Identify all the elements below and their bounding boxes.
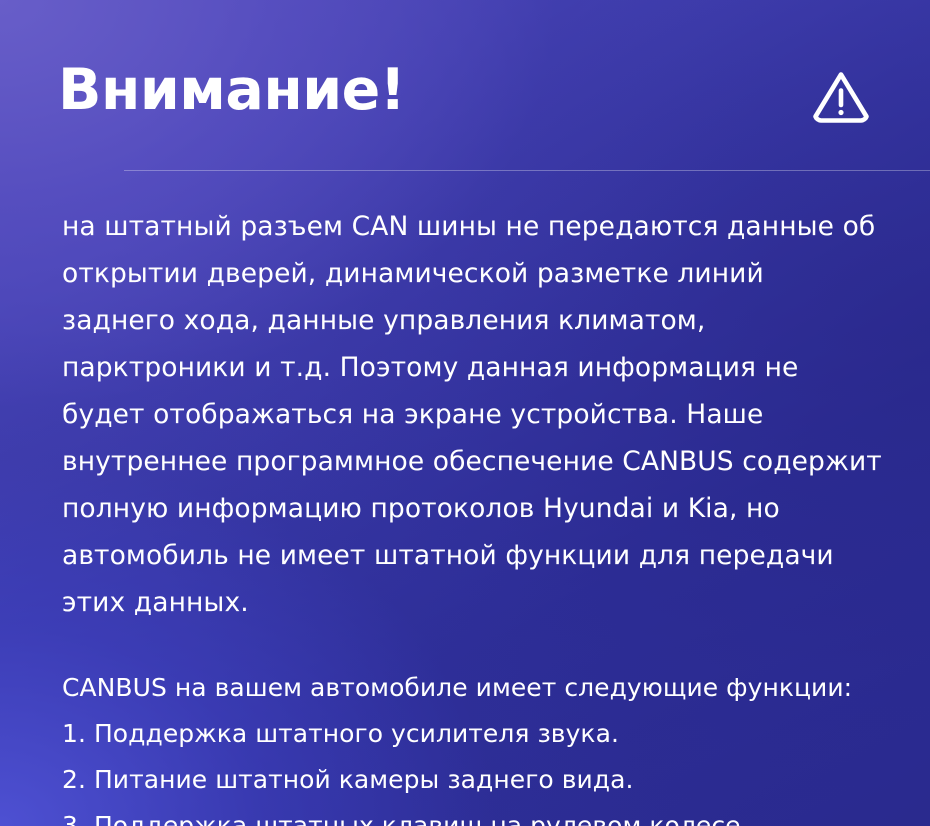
warning-banner: Внимание! на штатный разъем CAN шины не … — [0, 0, 930, 826]
banner-content: на штатный разъем CAN шины не передаются… — [62, 203, 882, 826]
warning-triangle-icon — [810, 66, 872, 128]
header-divider — [124, 170, 930, 171]
list-item: 2. Питание штатной камеры заднего вида. — [62, 757, 882, 803]
banner-header: Внимание! — [62, 0, 878, 171]
page-title: Внимание! — [58, 58, 405, 122]
functions-block: CANBUS на вашем автомобиле имеет следующ… — [62, 665, 882, 826]
list-item: 1. Поддержка штатного усилителя звука. — [62, 711, 882, 757]
functions-list: 1. Поддержка штатного усилителя звука. 2… — [62, 711, 882, 826]
list-item: 3. Поддержка штатных клавиш на рулевом к… — [62, 803, 882, 826]
functions-heading: CANBUS на вашем автомобиле имеет следующ… — [62, 665, 882, 711]
intro-paragraph: на штатный разъем CAN шины не передаются… — [62, 203, 882, 626]
